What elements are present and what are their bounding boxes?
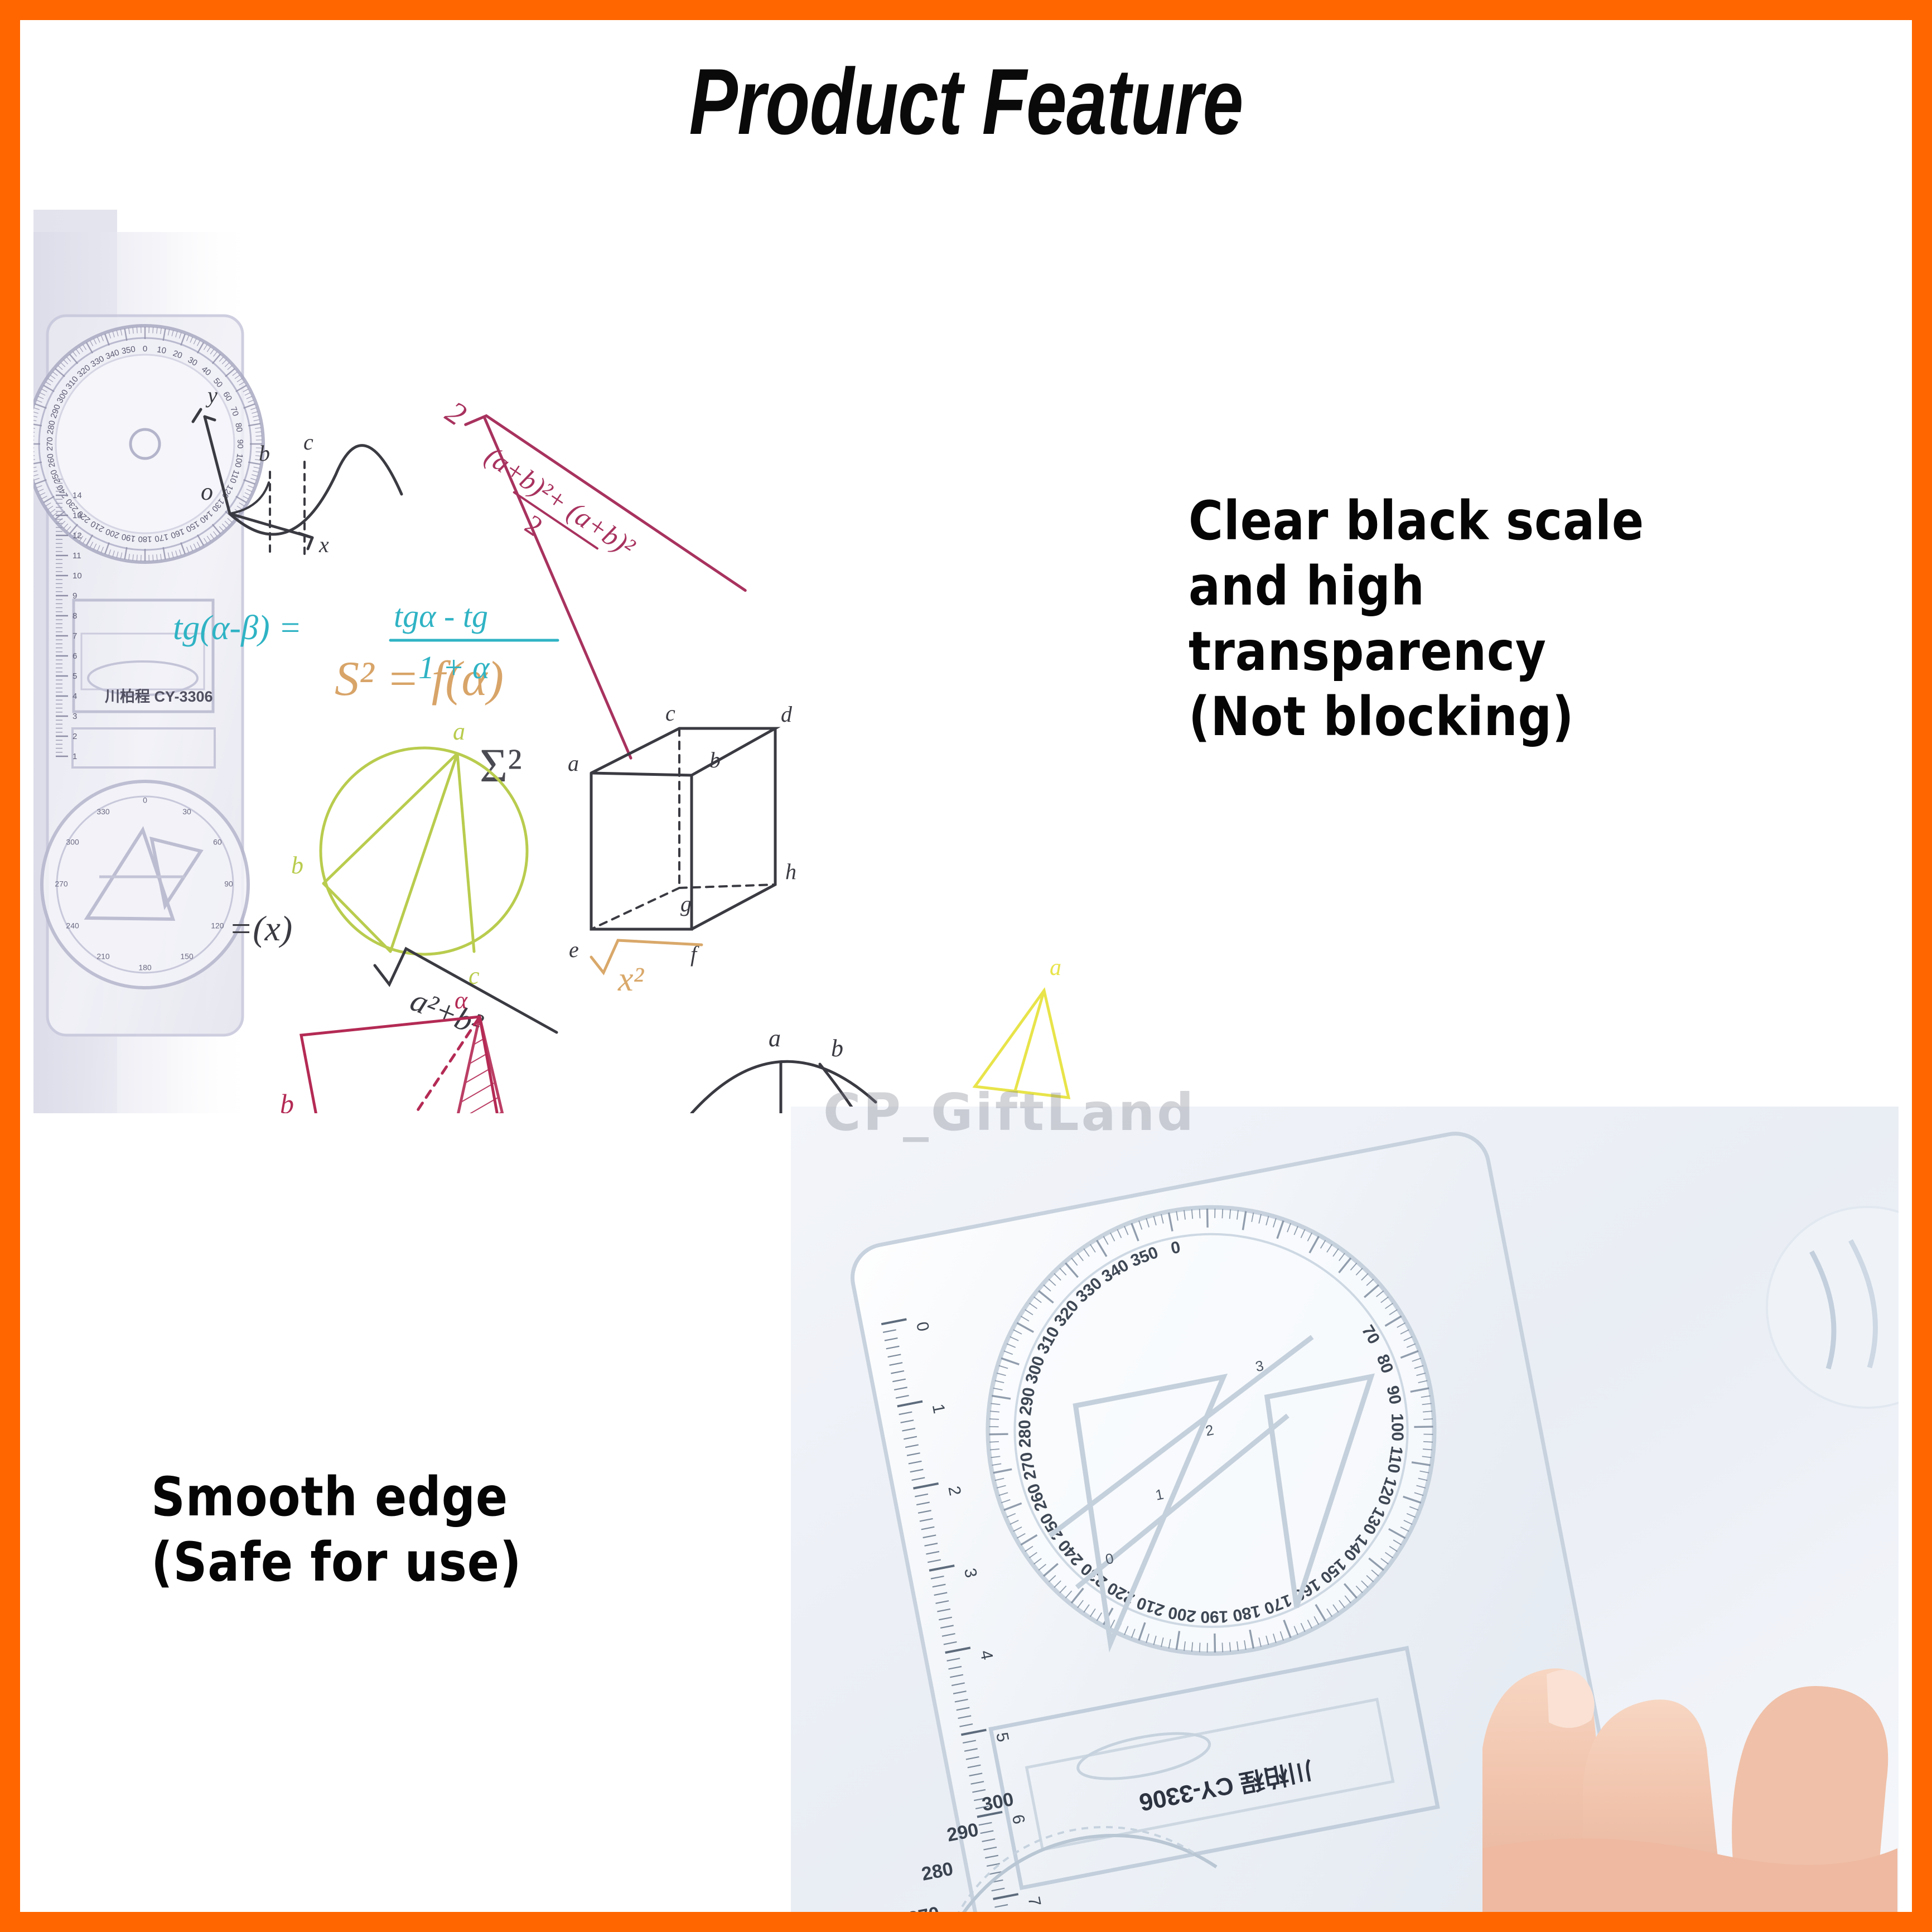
svg-text:c: c bbox=[303, 429, 313, 455]
cm-label: 8 bbox=[73, 611, 77, 621]
caption-line-3: (Not blocking) bbox=[1189, 684, 1827, 750]
protractor-degree-label: 90 bbox=[235, 439, 245, 449]
cm-label: 12 bbox=[73, 531, 82, 540]
lower-circle-label: 150 bbox=[180, 952, 194, 961]
cm-label: 1 bbox=[73, 752, 77, 761]
cm-label: 14 bbox=[73, 491, 82, 500]
cm-label: 6 bbox=[73, 651, 77, 661]
caption-line-1: and high bbox=[1189, 554, 1827, 619]
big-protractor-degree-label: 280 bbox=[1016, 1419, 1035, 1448]
lower-circle-label: 0 bbox=[143, 796, 147, 805]
svg-text:tgα - tg: tgα - tg bbox=[394, 598, 488, 634]
feature-caption-smooth-edge: Smooth edge(Safe for use) bbox=[151, 1465, 740, 1595]
cm-label: 9 bbox=[73, 591, 77, 601]
cm-label: 4 bbox=[73, 692, 77, 701]
page-frame: Product Feature bbox=[20, 20, 1912, 1912]
protractor-degree-label: 0 bbox=[143, 344, 147, 354]
svg-text:g: g bbox=[680, 891, 692, 916]
svg-text:a: a bbox=[453, 718, 465, 745]
cm-label: 11 bbox=[73, 551, 81, 561]
cm-label: 13 bbox=[73, 511, 82, 520]
protractor-degree-label: 270 bbox=[45, 437, 55, 451]
svg-text:b: b bbox=[709, 747, 721, 772]
lower-circle-label: 330 bbox=[96, 807, 110, 816]
cm-label: 5 bbox=[73, 672, 77, 681]
lower-circle-label: 270 bbox=[55, 880, 68, 888]
big-protractor-degree-label: 90 bbox=[1383, 1384, 1405, 1406]
svg-text:x: x bbox=[318, 532, 329, 557]
svg-text:e: e bbox=[569, 937, 579, 962]
svg-text:y: y bbox=[205, 383, 218, 408]
svg-text:tg(α-β) =: tg(α-β) = bbox=[173, 609, 302, 647]
big-protractor-degree-label: 190 bbox=[1200, 1607, 1229, 1626]
caption-line-2: transparency bbox=[1189, 619, 1827, 684]
svg-text:x²: x² bbox=[617, 960, 645, 998]
svg-text:a: a bbox=[769, 1025, 781, 1052]
protractor-degree-label: 80 bbox=[233, 422, 244, 433]
handwriting-f-of-x: =(x) bbox=[229, 909, 292, 948]
big-protractor-degree-label: 100 bbox=[1388, 1413, 1407, 1442]
svg-text:c: c bbox=[665, 701, 675, 726]
product-photo-ruler-on-worksheet: 0102030405060708090100110120130140150160… bbox=[33, 210, 1145, 1113]
svg-text:d: d bbox=[781, 702, 793, 727]
svg-text:α: α bbox=[455, 987, 468, 1014]
protractor-degree-label: 10 bbox=[156, 345, 167, 356]
svg-text:b: b bbox=[831, 1035, 843, 1062]
svg-text:1 + α: 1 + α bbox=[418, 649, 490, 685]
lower-circle-label: 240 bbox=[66, 921, 79, 930]
svg-text:b: b bbox=[259, 441, 270, 466]
caption-line-1: (Safe for use) bbox=[151, 1530, 740, 1595]
brand-label: 川柏程 CY-3306 bbox=[105, 688, 213, 705]
lower-circle-label: 60 bbox=[213, 838, 222, 847]
svg-text:a: a bbox=[1050, 955, 1061, 981]
cm-label: 2 bbox=[73, 732, 77, 741]
cm-label: 7 bbox=[73, 631, 77, 641]
lower-circle-label: 210 bbox=[96, 952, 110, 961]
svg-text:h: h bbox=[785, 859, 796, 884]
cm-label: 3 bbox=[73, 712, 77, 721]
circular-protractor: 0102030405060708090100110120130140150160… bbox=[33, 326, 263, 562]
lower-circle-label: 90 bbox=[224, 880, 233, 888]
svg-text:b: b bbox=[280, 1088, 294, 1113]
lower-circle-label: 300 bbox=[66, 838, 79, 847]
svg-text:a: a bbox=[568, 751, 579, 776]
page-title: Product Feature bbox=[228, 48, 1704, 156]
caption-line-0: Clear black scale bbox=[1189, 489, 1827, 554]
lower-circle-label: 30 bbox=[182, 807, 191, 816]
svg-text:b: b bbox=[291, 852, 303, 879]
svg-text:e: e bbox=[553, 1110, 567, 1113]
caption-line-0: Smooth edge bbox=[151, 1465, 740, 1530]
cm-label: 10 bbox=[73, 571, 82, 581]
product-photo-hand-holding-ruler: 01234567 0708090100110120130140150160170… bbox=[791, 1107, 1899, 1912]
svg-text:o: o bbox=[201, 478, 213, 505]
lower-circle-templates: 0306090120150180210240270300330 bbox=[42, 781, 248, 988]
lower-circle-label: 180 bbox=[138, 963, 152, 972]
protractor-degree-label: 180 bbox=[138, 534, 152, 544]
lower-circle-label: 120 bbox=[211, 921, 224, 930]
feature-caption-clear-scale: Clear black scaleand hightransparency(No… bbox=[1189, 489, 1827, 750]
